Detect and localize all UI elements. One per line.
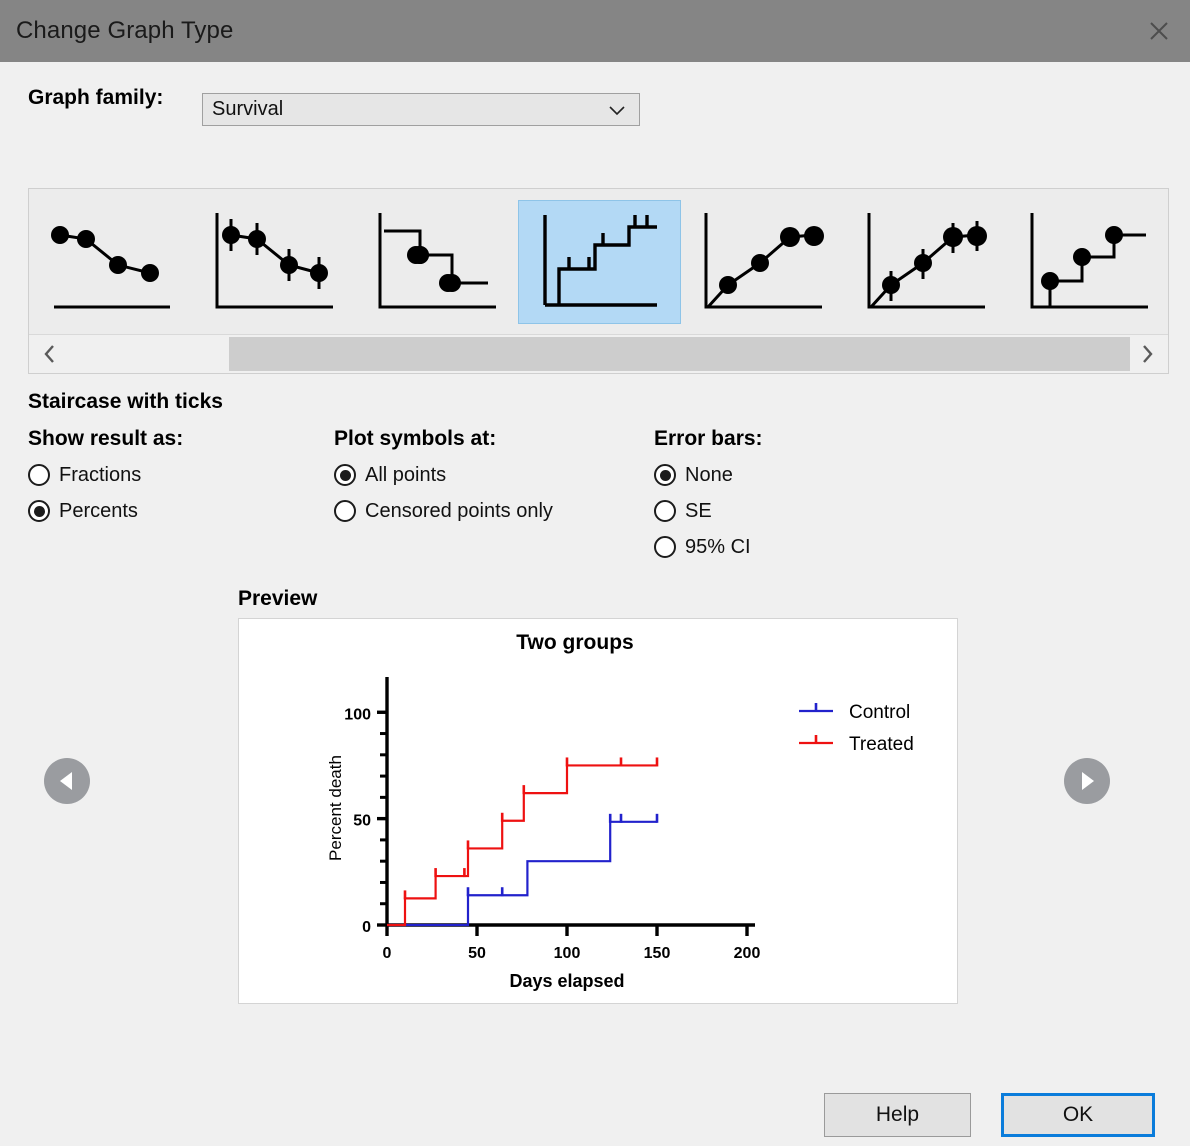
survival-chart: Two groups050100050100150200Days elapsed… xyxy=(239,619,957,1003)
gallery-scrollbar[interactable] xyxy=(29,334,1168,373)
series-line-control xyxy=(387,822,657,925)
radio-all-points-label: All points xyxy=(365,464,446,487)
x-tick-label: 0 xyxy=(383,945,392,962)
radio-fractions[interactable]: Fractions xyxy=(28,457,183,493)
error-bars-group: Error bars: None SE 95% CI xyxy=(654,427,763,565)
x-axis-label: Days elapsed xyxy=(509,971,624,991)
show-result-as-title: Show result as: xyxy=(28,427,183,451)
preview-chart-panel: Two groups050100050100150200Days elapsed… xyxy=(238,618,958,1004)
window-titlebar: Change Graph Type xyxy=(0,0,1190,62)
radio-all-points[interactable]: All points xyxy=(334,457,553,493)
x-tick-label: 150 xyxy=(644,945,671,962)
graph-family-select[interactable]: Survival xyxy=(202,93,640,126)
radio-error-se-indicator xyxy=(654,500,676,522)
window-title: Change Graph Type xyxy=(0,17,233,45)
graph-family-row: Graph family: Survival xyxy=(0,62,1190,132)
scrollbar-track[interactable] xyxy=(71,335,1126,373)
help-button[interactable]: Help xyxy=(824,1093,971,1137)
x-tick-label: 100 xyxy=(554,945,581,962)
radio-error-none[interactable]: None xyxy=(654,457,763,493)
chevron-down-icon xyxy=(607,103,639,117)
radio-error-none-label: None xyxy=(685,464,733,487)
x-tick-label: 50 xyxy=(468,945,486,962)
selected-graph-type-name: Staircase with ticks xyxy=(28,390,223,414)
x-tick-label: 200 xyxy=(734,945,761,962)
scrollbar-thumb[interactable] xyxy=(229,337,1130,371)
plot-symbols-at-title: Plot symbols at: xyxy=(334,427,553,451)
show-result-as-group: Show result as: Fractions Percents xyxy=(28,427,183,529)
thumb-staircase-symbols[interactable] xyxy=(355,200,518,324)
preview-label: Preview xyxy=(238,587,317,611)
thumb-connecting-line-symbols[interactable] xyxy=(29,200,192,324)
radio-all-points-indicator xyxy=(334,464,356,486)
y-tick-label: 50 xyxy=(353,813,371,830)
thumb-ascending-staircase-symbols[interactable] xyxy=(1007,200,1170,324)
legend-label-treated: Treated xyxy=(849,734,914,755)
y-tick-label: 100 xyxy=(344,706,371,723)
radio-censored-points-only[interactable]: Censored points only xyxy=(334,493,553,529)
thumb-staircase-with-ticks[interactable] xyxy=(518,200,681,324)
radio-fractions-label: Fractions xyxy=(59,464,141,487)
radio-percents[interactable]: Percents xyxy=(28,493,183,529)
thumb-connecting-line-symbols-error-bars[interactable] xyxy=(192,200,355,324)
radio-percents-indicator xyxy=(28,500,50,522)
chart-title: Two groups xyxy=(516,631,633,654)
triangle-right-icon[interactable] xyxy=(1064,758,1110,804)
chevron-right-icon[interactable] xyxy=(1126,335,1168,373)
radio-error-se[interactable]: SE xyxy=(654,493,763,529)
radio-error-none-indicator xyxy=(654,464,676,486)
radio-error-95ci-label: 95% CI xyxy=(685,536,751,559)
triangle-left-icon[interactable] xyxy=(44,758,90,804)
radio-percents-label: Percents xyxy=(59,500,138,523)
radio-censored-points-only-label: Censored points only xyxy=(365,500,553,523)
close-icon[interactable] xyxy=(1128,0,1190,62)
radio-censored-points-only-indicator xyxy=(334,500,356,522)
y-tick-label: 0 xyxy=(362,919,371,936)
y-axis-label: Percent death xyxy=(326,755,345,861)
plot-symbols-at-group: Plot symbols at: All points Censored poi… xyxy=(334,427,553,529)
thumb-ascending-line-symbols-error-bars[interactable] xyxy=(844,200,1007,324)
ok-button[interactable]: OK xyxy=(1001,1093,1155,1137)
radio-error-95ci-indicator xyxy=(654,536,676,558)
legend-label-control: Control xyxy=(849,702,910,723)
error-bars-title: Error bars: xyxy=(654,427,763,451)
graph-family-value: Survival xyxy=(203,98,607,121)
gallery-strip xyxy=(29,189,1170,334)
radio-error-95ci[interactable]: 95% CI xyxy=(654,529,763,565)
graph-type-gallery xyxy=(28,188,1169,374)
thumb-ascending-line-symbols[interactable] xyxy=(681,200,844,324)
series-line-treated xyxy=(387,765,657,925)
radio-fractions-indicator xyxy=(28,464,50,486)
radio-error-se-label: SE xyxy=(685,500,712,523)
chevron-left-icon[interactable] xyxy=(29,335,71,373)
graph-family-label: Graph family: xyxy=(28,86,163,110)
